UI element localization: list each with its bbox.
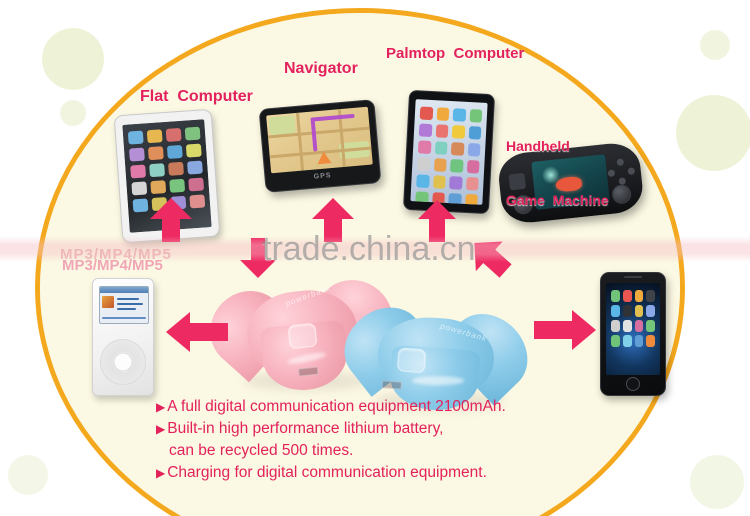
- phone-app-grid: [609, 288, 657, 370]
- decorative-circle-top-right: [676, 95, 750, 171]
- device-gps-navigator: GPS: [259, 99, 382, 193]
- phone-earpiece: [624, 276, 642, 278]
- label-handheld-line2: Game Machine: [506, 191, 609, 209]
- label-flat-computer: Flat Computer: [140, 88, 253, 106]
- label-handheld-game-machine: Handheld Game Machine: [506, 101, 609, 245]
- decorative-circle-top-left-small: [60, 100, 86, 126]
- gps-position-marker: [316, 151, 331, 164]
- label-navigator: Navigator: [284, 60, 358, 78]
- feature-item-2: ▶ Built-in high performance lithium batt…: [156, 418, 626, 440]
- bullet-marker-icon: ▶: [156, 418, 165, 440]
- device-smartphone: [600, 272, 666, 396]
- arrow-left-to-mp3: [166, 312, 228, 352]
- blue-power-bank-button[interactable]: [397, 347, 427, 373]
- product-infographic: GPS: [0, 0, 750, 516]
- device-palmtop-computer: [403, 90, 495, 214]
- bullet-marker-icon: ▶: [156, 462, 165, 484]
- feature-text-1: A full digital communication equipment 2…: [167, 396, 626, 418]
- feature-list: ▶ A full digital communication equipment…: [156, 396, 626, 484]
- phone-screen: [606, 283, 660, 375]
- phone-home-button[interactable]: [626, 377, 640, 391]
- gps-map-screen: [266, 107, 373, 174]
- arrow-up-to-palmtop: [418, 200, 456, 242]
- bullet-marker-icon: ▶: [156, 396, 165, 418]
- decorative-circle-top-left: [42, 28, 104, 90]
- decorative-circle-bottom-right: [690, 455, 744, 509]
- blue-power-bank-usb-port: [382, 380, 403, 389]
- decorative-circle-top-right-small: [700, 30, 730, 60]
- palmtop-screen: [410, 99, 487, 205]
- feature-text-2-continuation: can be recycled 500 times.: [156, 440, 626, 462]
- label-handheld-line1: Handheld: [506, 137, 609, 155]
- arrow-down-to-power-bank: [240, 238, 276, 278]
- label-palmtop-computer: Palmtop Computer: [386, 45, 524, 62]
- decorative-circle-bottom-left: [8, 455, 48, 495]
- feature-item-1: ▶ A full digital communication equipment…: [156, 396, 626, 418]
- feature-text-2: Built-in high performance lithium batter…: [167, 418, 626, 440]
- blue-power-bank-highlight: [412, 376, 464, 385]
- pink-power-bank-button[interactable]: [287, 323, 317, 350]
- mp3-screen: [99, 286, 149, 324]
- palmtop-app-grid: [414, 104, 485, 199]
- arrow-up-to-navigator: [312, 198, 354, 242]
- device-mp3-player: [92, 278, 154, 396]
- label-mp3-mp4-mp5: MP3/MP4/MP5: [62, 257, 163, 274]
- feature-text-3: Charging for digital communication equip…: [167, 462, 626, 484]
- arrow-up-to-flat-computer: [150, 198, 192, 242]
- feature-item-3: ▶ Charging for digital communication equ…: [156, 462, 626, 484]
- arrow-right-to-phone: [534, 310, 596, 350]
- mp3-click-wheel[interactable]: [100, 339, 146, 385]
